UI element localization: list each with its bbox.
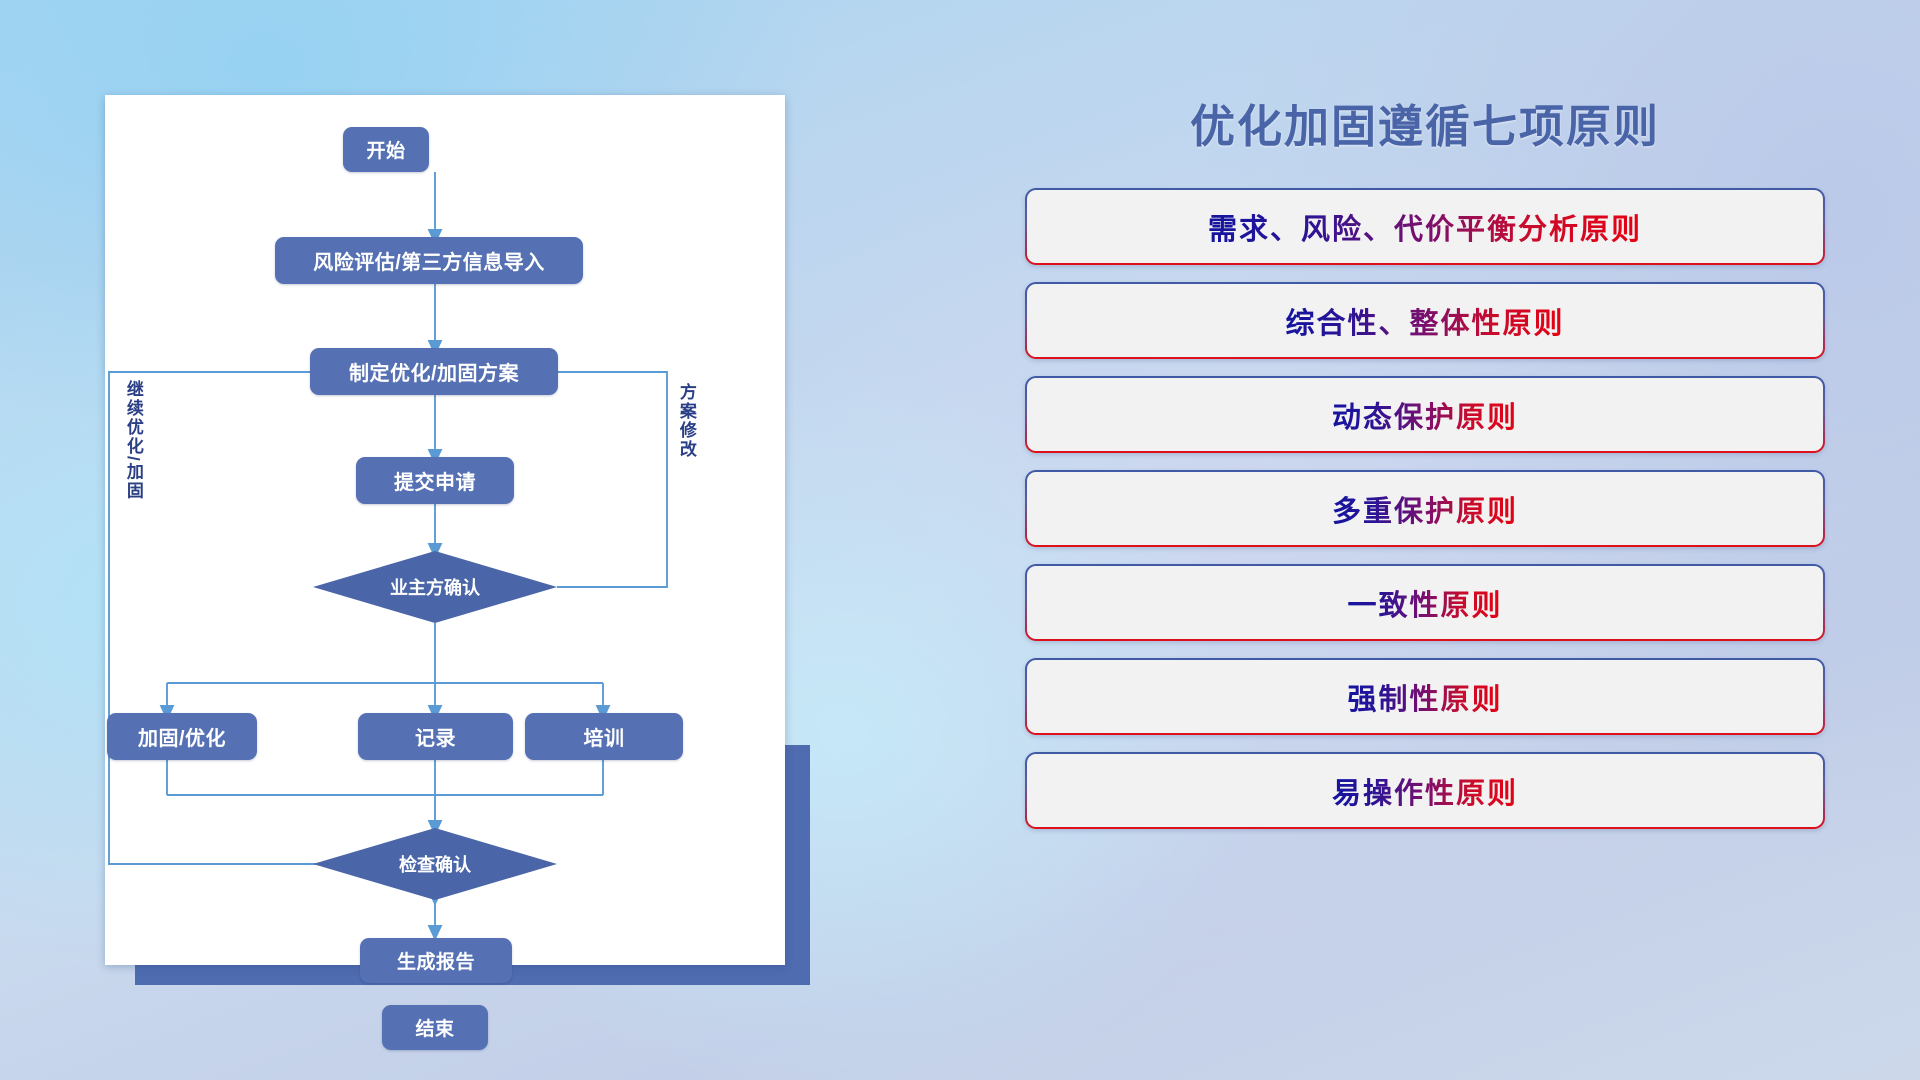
principle-card[interactable]: 一致性原则 [1025,564,1825,641]
principle-card-label: 易操作性原则 [1332,770,1518,812]
principle-card[interactable]: 易操作性原则 [1025,752,1825,829]
flow-node-owner-confirm-label: 业主方确认 [390,574,480,600]
principle-card-inner: 一致性原则 [1027,566,1823,639]
flow-edge-label-left-loop: 继续优化/加固 [124,380,142,501]
flowchart-card: 开始 风险评估/第三方信息导入 制定优化/加固方案 提交申请 业主方确认 加固/… [105,95,785,965]
principle-card[interactable]: 动态保护原则 [1025,376,1825,453]
flow-node-generate-report-label: 生成报告 [397,947,475,974]
principles-list: 需求、风险、代价平衡分析原则 综合性、整体性原则 动态保护原则 多重保护原则 [1025,188,1825,846]
flow-node-submit-label: 提交申请 [394,466,476,495]
principles-panel: 优化加固遵循七项原则 需求、风险、代价平衡分析原则 综合性、整体性原则 动态保护… [1020,90,1830,1020]
principle-card-label: 多重保护原则 [1332,488,1518,530]
principle-card-inner: 强制性原则 [1027,660,1823,733]
flow-node-record-label: 记录 [415,722,456,751]
principle-card[interactable]: 强制性原则 [1025,658,1825,735]
flow-node-submit[interactable]: 提交申请 [356,457,514,504]
principle-card[interactable]: 多重保护原则 [1025,470,1825,547]
flow-node-record[interactable]: 记录 [358,713,513,760]
slide-canvas: 开始 风险评估/第三方信息导入 制定优化/加固方案 提交申请 业主方确认 加固/… [0,0,1920,1080]
principle-card[interactable]: 综合性、整体性原则 [1025,282,1825,359]
flow-node-start-label: 开始 [366,136,405,163]
flow-node-start[interactable]: 开始 [343,127,429,172]
principle-card-inner: 易操作性原则 [1027,754,1823,827]
flow-node-risk-assessment-label: 风险评估/第三方信息导入 [313,246,545,275]
principle-card-label: 强制性原则 [1347,676,1502,718]
principle-card-label: 一致性原则 [1347,582,1502,624]
flow-node-plan[interactable]: 制定优化/加固方案 [310,348,558,395]
principle-card-label: 需求、风险、代价平衡分析原则 [1208,206,1642,248]
principle-card-inner: 多重保护原则 [1027,472,1823,545]
flow-node-risk-assessment[interactable]: 风险评估/第三方信息导入 [275,237,583,284]
principle-card-label: 动态保护原则 [1332,394,1518,436]
flow-node-reinforce[interactable]: 加固/优化 [107,713,257,760]
principle-card[interactable]: 需求、风险、代价平衡分析原则 [1025,188,1825,265]
flow-node-reinforce-label: 加固/优化 [138,722,226,751]
flow-node-check-confirm-label: 检查确认 [399,851,471,877]
flow-node-generate-report[interactable]: 生成报告 [360,938,512,983]
principles-panel-title: 优化加固遵循七项原则 [1020,90,1830,155]
flow-node-owner-confirm[interactable]: 业主方确认 [313,551,557,623]
principle-card-label: 综合性、整体性原则 [1285,300,1564,342]
principle-card-inner: 需求、风险、代价平衡分析原则 [1027,190,1823,263]
flow-edge-label-right-loop: 方案修改 [677,383,695,459]
flow-node-plan-label: 制定优化/加固方案 [349,357,519,386]
flow-node-training-label: 培训 [584,722,625,751]
principle-card-inner: 综合性、整体性原则 [1027,284,1823,357]
flow-node-training[interactable]: 培训 [525,713,683,760]
principle-card-inner: 动态保护原则 [1027,378,1823,451]
flow-node-check-confirm[interactable]: 检查确认 [313,828,557,900]
flow-node-end[interactable]: 结束 [382,1005,488,1050]
flow-node-end-label: 结束 [415,1014,454,1041]
